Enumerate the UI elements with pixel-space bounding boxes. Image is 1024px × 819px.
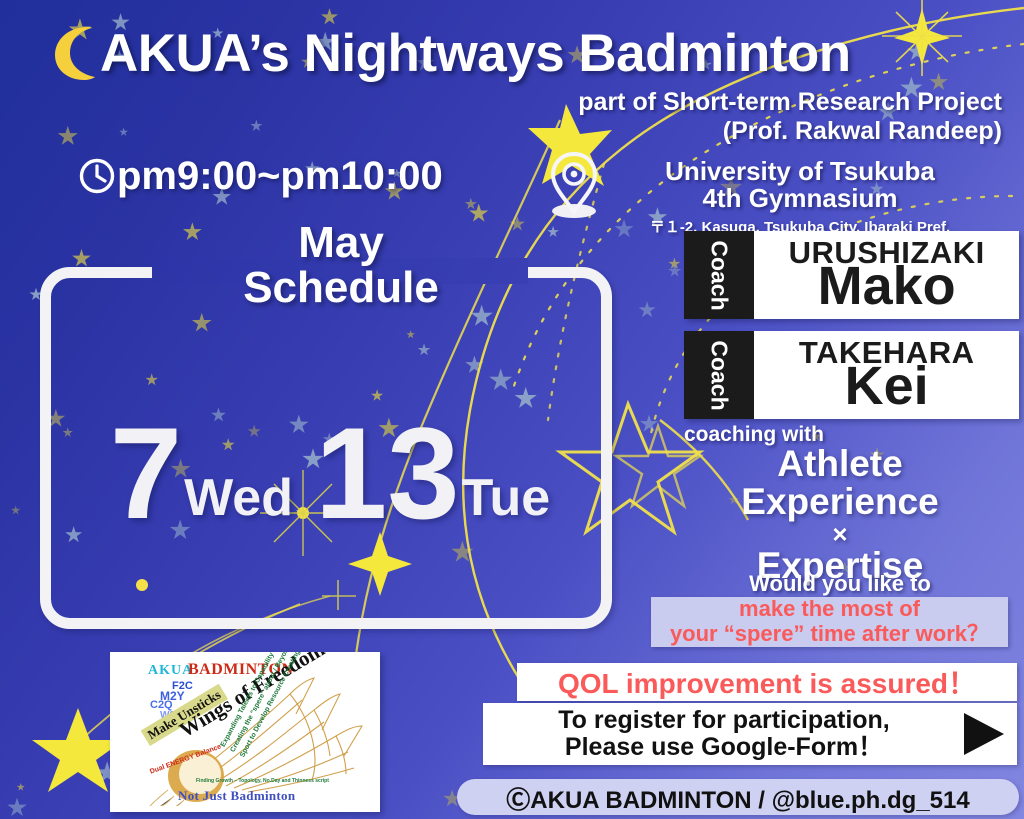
coach-names: URUSHIZAKI Mako xyxy=(754,231,1019,319)
poster-canvas: AKUA’s Nightways Badminton part of Short… xyxy=(0,0,1024,819)
value-line-athlete: Athlete xyxy=(660,445,1020,483)
register-line-2: Please use Google-Form！ xyxy=(501,734,947,761)
question-lead-text: Would you like to xyxy=(660,571,1020,597)
coach-plate: Coach URUSHIZAKI Mako xyxy=(684,231,1019,319)
star-decoration xyxy=(250,120,263,133)
time-row: pm9:00~pm10:00 xyxy=(78,156,443,196)
star-decoration xyxy=(668,264,682,278)
logo-not-just-badminton-text: Not Just Badminton xyxy=(178,788,295,804)
register-banner[interactable]: To register for participation, Please us… xyxy=(483,703,1017,765)
star-decoration xyxy=(11,506,21,516)
register-line-1: To register for participation, xyxy=(558,706,890,734)
location-pin-icon xyxy=(548,150,600,220)
value-proposition: Athlete Experience × Expertise xyxy=(660,445,1020,585)
date-weekday: Wed xyxy=(184,472,293,530)
venue-line-1: University of Tsukuba xyxy=(600,158,1000,185)
star-decoration xyxy=(640,415,659,434)
qol-banner: QOL improvement is assured！ xyxy=(517,663,1017,701)
logo-bottom-small-text: Finding Growth – Topology, No.Day and Th… xyxy=(196,778,329,784)
coach-tab-label: Coach xyxy=(684,231,754,319)
venue-block: University of Tsukuba 4th Gymnasium 〒１-2… xyxy=(600,158,1000,237)
question-highlight-box: make the most of your “spere” time after… xyxy=(651,597,1008,647)
coach-tab-label: Coach xyxy=(684,331,754,419)
star-decoration xyxy=(57,126,78,147)
clock-icon xyxy=(78,157,116,195)
month-name: May xyxy=(298,218,384,267)
value-times-symbol: × xyxy=(660,521,1020,547)
crescent-moon-icon xyxy=(52,24,98,82)
register-text: To register for participation, Please us… xyxy=(483,707,947,761)
value-line-experience: Experience xyxy=(660,483,1020,521)
star-decoration xyxy=(547,226,559,238)
question-line-2: your “spere” time after work？ xyxy=(670,622,989,647)
coach-given-name: Mako xyxy=(818,261,956,312)
venue-line-2: 4th Gymnasium xyxy=(600,185,1000,212)
question-line-1: make the most of xyxy=(739,597,920,622)
star-decoration xyxy=(119,128,128,137)
date-day-number: 7 xyxy=(110,418,182,530)
dates-row: 7 Wed 13 Tue xyxy=(60,390,600,530)
date-weekday: Tue xyxy=(462,472,551,530)
logo-akua-text: AKUA xyxy=(148,663,193,679)
coach-given-name: Kei xyxy=(845,361,929,412)
akua-badminton-logo-card: AKUA BADMINTON F2C M2Y C2Q W2A Make Unst… xyxy=(110,652,380,812)
date-entry: 13 Tue xyxy=(315,418,550,530)
play-triangle-icon[interactable] xyxy=(947,709,1017,759)
star-decoration xyxy=(638,301,656,319)
star-decoration xyxy=(72,249,91,268)
time-text: pm9:00~pm10:00 xyxy=(117,156,443,196)
date-entry: 7 Wed xyxy=(110,418,293,530)
subtitle-line-2: (Prof. Rakwal Randeep) xyxy=(723,117,1002,146)
title-row: AKUA’s Nightways Badminton xyxy=(52,20,1012,86)
coach-plate: Coach TAKEHARA Kei xyxy=(684,331,1019,419)
credit-pill: ⒸAKUA BADMINTON / @blue.ph.dg_514 xyxy=(457,779,1019,815)
schedule-word: Schedule xyxy=(150,266,532,311)
coach-tab-text: Coach xyxy=(706,240,733,310)
coach-names: TAKEHARA Kei xyxy=(754,331,1019,419)
page-title: AKUA’s Nightways Badminton xyxy=(100,27,851,80)
star-decoration xyxy=(465,198,478,211)
subtitle-line-1: part of Short-term Research Project xyxy=(578,88,1002,117)
star-decoration xyxy=(17,783,26,792)
star-decoration xyxy=(7,798,27,818)
coach-tab-text: Coach xyxy=(706,340,733,410)
star-decoration xyxy=(668,258,680,270)
schedule-heading: May Schedule xyxy=(150,221,532,311)
date-day-number: 13 xyxy=(315,418,460,530)
